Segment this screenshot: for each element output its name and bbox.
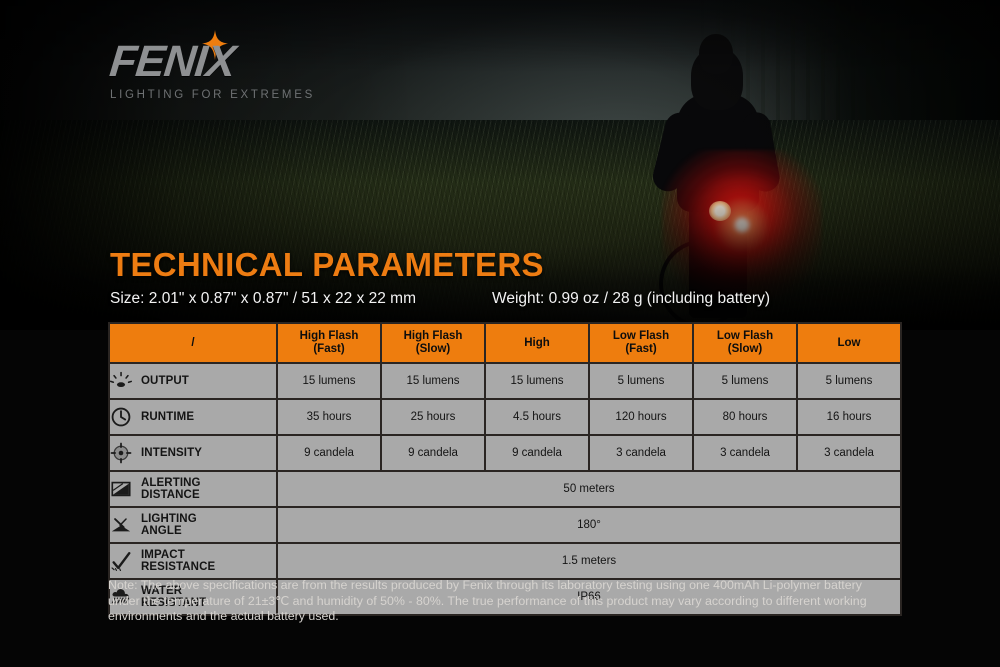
technical-parameters-table: / High Flash (Fast) High Flash (Slow) Hi… bbox=[108, 322, 902, 616]
row-label-text: OUTPUT bbox=[141, 375, 189, 388]
table-header-cell: Low Flash (Slow) bbox=[694, 324, 796, 362]
row-label-intensity: INTENSITY bbox=[110, 436, 276, 470]
table-cell: 3 candela bbox=[694, 436, 796, 470]
table-cell: 3 candela bbox=[590, 436, 692, 470]
table-cell: 25 hours bbox=[382, 400, 484, 434]
table-row: RUNTIME 35 hours 25 hours 4.5 hours 120 … bbox=[110, 400, 900, 434]
row-label-alerting-distance: ALERTINGDISTANCE bbox=[110, 472, 276, 506]
row-label-text: ALERTINGDISTANCE bbox=[141, 477, 201, 502]
table-cell: 80 hours bbox=[694, 400, 796, 434]
row-label-runtime: RUNTIME bbox=[110, 400, 276, 434]
table-cell-merged: 1.5 meters bbox=[278, 544, 900, 578]
table-cell: 9 candela bbox=[486, 436, 588, 470]
spec-size-text: Size: 2.01" x 0.87" x 0.87" / 51 x 22 x … bbox=[110, 290, 416, 308]
table-cell: 5 lumens bbox=[798, 364, 900, 398]
table-cell: 5 lumens bbox=[694, 364, 796, 398]
table-row: INTENSITY 9 candela 9 candela 9 candela … bbox=[110, 436, 900, 470]
table-header-cell: High Flash (Slow) bbox=[382, 324, 484, 362]
table-cell: 9 candela bbox=[382, 436, 484, 470]
table-row: ALERTINGDISTANCE 50 meters bbox=[110, 472, 900, 506]
footnote-text: Note: The above specifications are from … bbox=[108, 578, 892, 625]
table-header-row: / High Flash (Fast) High Flash (Slow) Hi… bbox=[110, 324, 900, 362]
table-row: IMPACTRESISTANCE 1.5 meters bbox=[110, 544, 900, 578]
beam-angle-icon bbox=[110, 514, 132, 536]
brand-tagline: LIGHTING FOR EXTREMES bbox=[110, 89, 430, 101]
header-line2: (Fast) bbox=[278, 343, 380, 356]
header-line2: (Slow) bbox=[694, 343, 796, 356]
table-cell: 35 hours bbox=[278, 400, 380, 434]
header-line1: Low Flash bbox=[590, 330, 692, 343]
table-header-cell: / bbox=[110, 324, 276, 362]
row-label-text: RUNTIME bbox=[141, 411, 194, 424]
header-line1: Low Flash bbox=[694, 330, 796, 343]
row-label-impact-resistance: IMPACTRESISTANCE bbox=[110, 544, 276, 578]
header-line1: High Flash bbox=[278, 330, 380, 343]
table-row: LIGHTINGANGLE 180° bbox=[110, 508, 900, 542]
header-line1: / bbox=[110, 337, 276, 350]
page-title: TECHNICAL PARAMETERS bbox=[110, 246, 544, 284]
table-cell: 16 hours bbox=[798, 400, 900, 434]
table-header-cell: Low bbox=[798, 324, 900, 362]
product-spec-sheet: FENIX LIGHTING FOR EXTREMES TECHNICAL PA… bbox=[0, 0, 1000, 667]
row-label-output: OUTPUT bbox=[110, 364, 276, 398]
table-header-cell: High bbox=[486, 324, 588, 362]
header-line2: (Fast) bbox=[590, 343, 692, 356]
row-label-lighting-angle: LIGHTINGANGLE bbox=[110, 508, 276, 542]
fenix-logo: FENIX LIGHTING FOR EXTREMES bbox=[110, 40, 430, 101]
table-cell: 4.5 hours bbox=[486, 400, 588, 434]
table-cell: 5 lumens bbox=[590, 364, 692, 398]
row-label-text: LIGHTINGANGLE bbox=[141, 513, 197, 538]
table-row: OUTPUT 15 lumens 15 lumens 15 lumens 5 l… bbox=[110, 364, 900, 398]
clock-icon bbox=[110, 406, 132, 428]
table-cell-merged: 50 meters bbox=[278, 472, 900, 506]
header-line1: High bbox=[486, 337, 588, 350]
table-cell-merged: 180° bbox=[278, 508, 900, 542]
table-cell: 9 candela bbox=[278, 436, 380, 470]
table-cell: 15 lumens bbox=[486, 364, 588, 398]
row-label-text: INTENSITY bbox=[141, 447, 202, 460]
row-label-text: IMPACTRESISTANCE bbox=[141, 549, 215, 574]
distance-flag-icon bbox=[110, 478, 132, 500]
header-line1: Low bbox=[798, 337, 900, 350]
table-header-cell: High Flash (Fast) bbox=[278, 324, 380, 362]
brand-wordmark: FENIX bbox=[108, 40, 433, 84]
impact-check-icon bbox=[110, 550, 132, 572]
header-line1: High Flash bbox=[382, 330, 484, 343]
table-cell: 15 lumens bbox=[382, 364, 484, 398]
sunburst-icon bbox=[110, 370, 132, 392]
table-cell: 15 lumens bbox=[278, 364, 380, 398]
table-cell: 120 hours bbox=[590, 400, 692, 434]
table-cell: 3 candela bbox=[798, 436, 900, 470]
header-line2: (Slow) bbox=[382, 343, 484, 356]
table-header-cell: Low Flash (Fast) bbox=[590, 324, 692, 362]
crosshair-icon bbox=[110, 442, 132, 464]
spec-weight-text: Weight: 0.99 oz / 28 g (including batter… bbox=[492, 290, 770, 308]
